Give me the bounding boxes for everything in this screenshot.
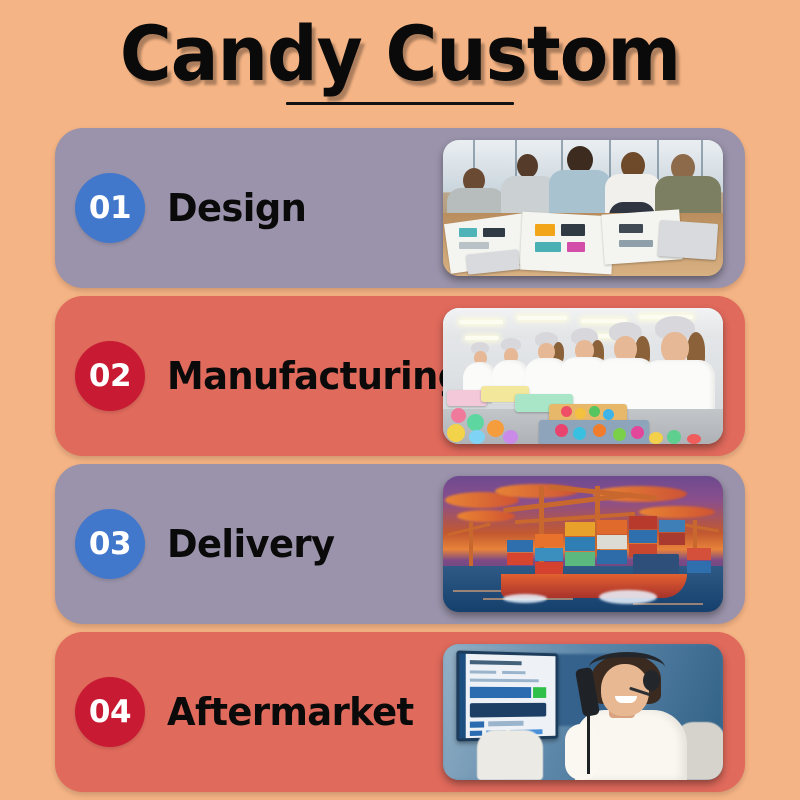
candy-factory-illustration bbox=[443, 308, 723, 444]
step-number-text: 01 bbox=[89, 190, 131, 226]
step-number-badge: 04 bbox=[75, 677, 145, 747]
design-meeting-illustration bbox=[443, 140, 723, 276]
step-label: Design bbox=[167, 186, 306, 230]
step-number-text: 04 bbox=[89, 694, 131, 730]
step-label: Aftermarket bbox=[167, 690, 414, 734]
page-title: Candy Custom bbox=[28, 14, 772, 94]
title-underline bbox=[286, 102, 514, 105]
step-label: Delivery bbox=[167, 522, 334, 566]
step-number-text: 02 bbox=[89, 358, 131, 394]
process-step-list: 01 Design bbox=[55, 128, 745, 800]
process-step-row[interactable]: 01 Design bbox=[55, 128, 745, 288]
step-thumbnail-design bbox=[443, 140, 723, 276]
step-number-badge: 01 bbox=[75, 173, 145, 243]
support-agent-illustration bbox=[443, 644, 723, 780]
step-number-text: 03 bbox=[89, 526, 131, 562]
process-step-row[interactable]: 04 Aftermarket bbox=[55, 632, 745, 792]
step-thumbnail-delivery bbox=[443, 476, 723, 612]
page-header: Candy Custom bbox=[0, 14, 800, 105]
step-thumbnail-manufacturing bbox=[443, 308, 723, 444]
container-port-illustration bbox=[443, 476, 723, 612]
step-thumbnail-aftermarket bbox=[443, 644, 723, 780]
step-number-badge: 03 bbox=[75, 509, 145, 579]
process-step-row[interactable]: 03 Delivery bbox=[55, 464, 745, 624]
step-number-badge: 02 bbox=[75, 341, 145, 411]
step-label: Manufacturing bbox=[167, 354, 464, 398]
process-step-row[interactable]: 02 Manufacturing bbox=[55, 296, 745, 456]
